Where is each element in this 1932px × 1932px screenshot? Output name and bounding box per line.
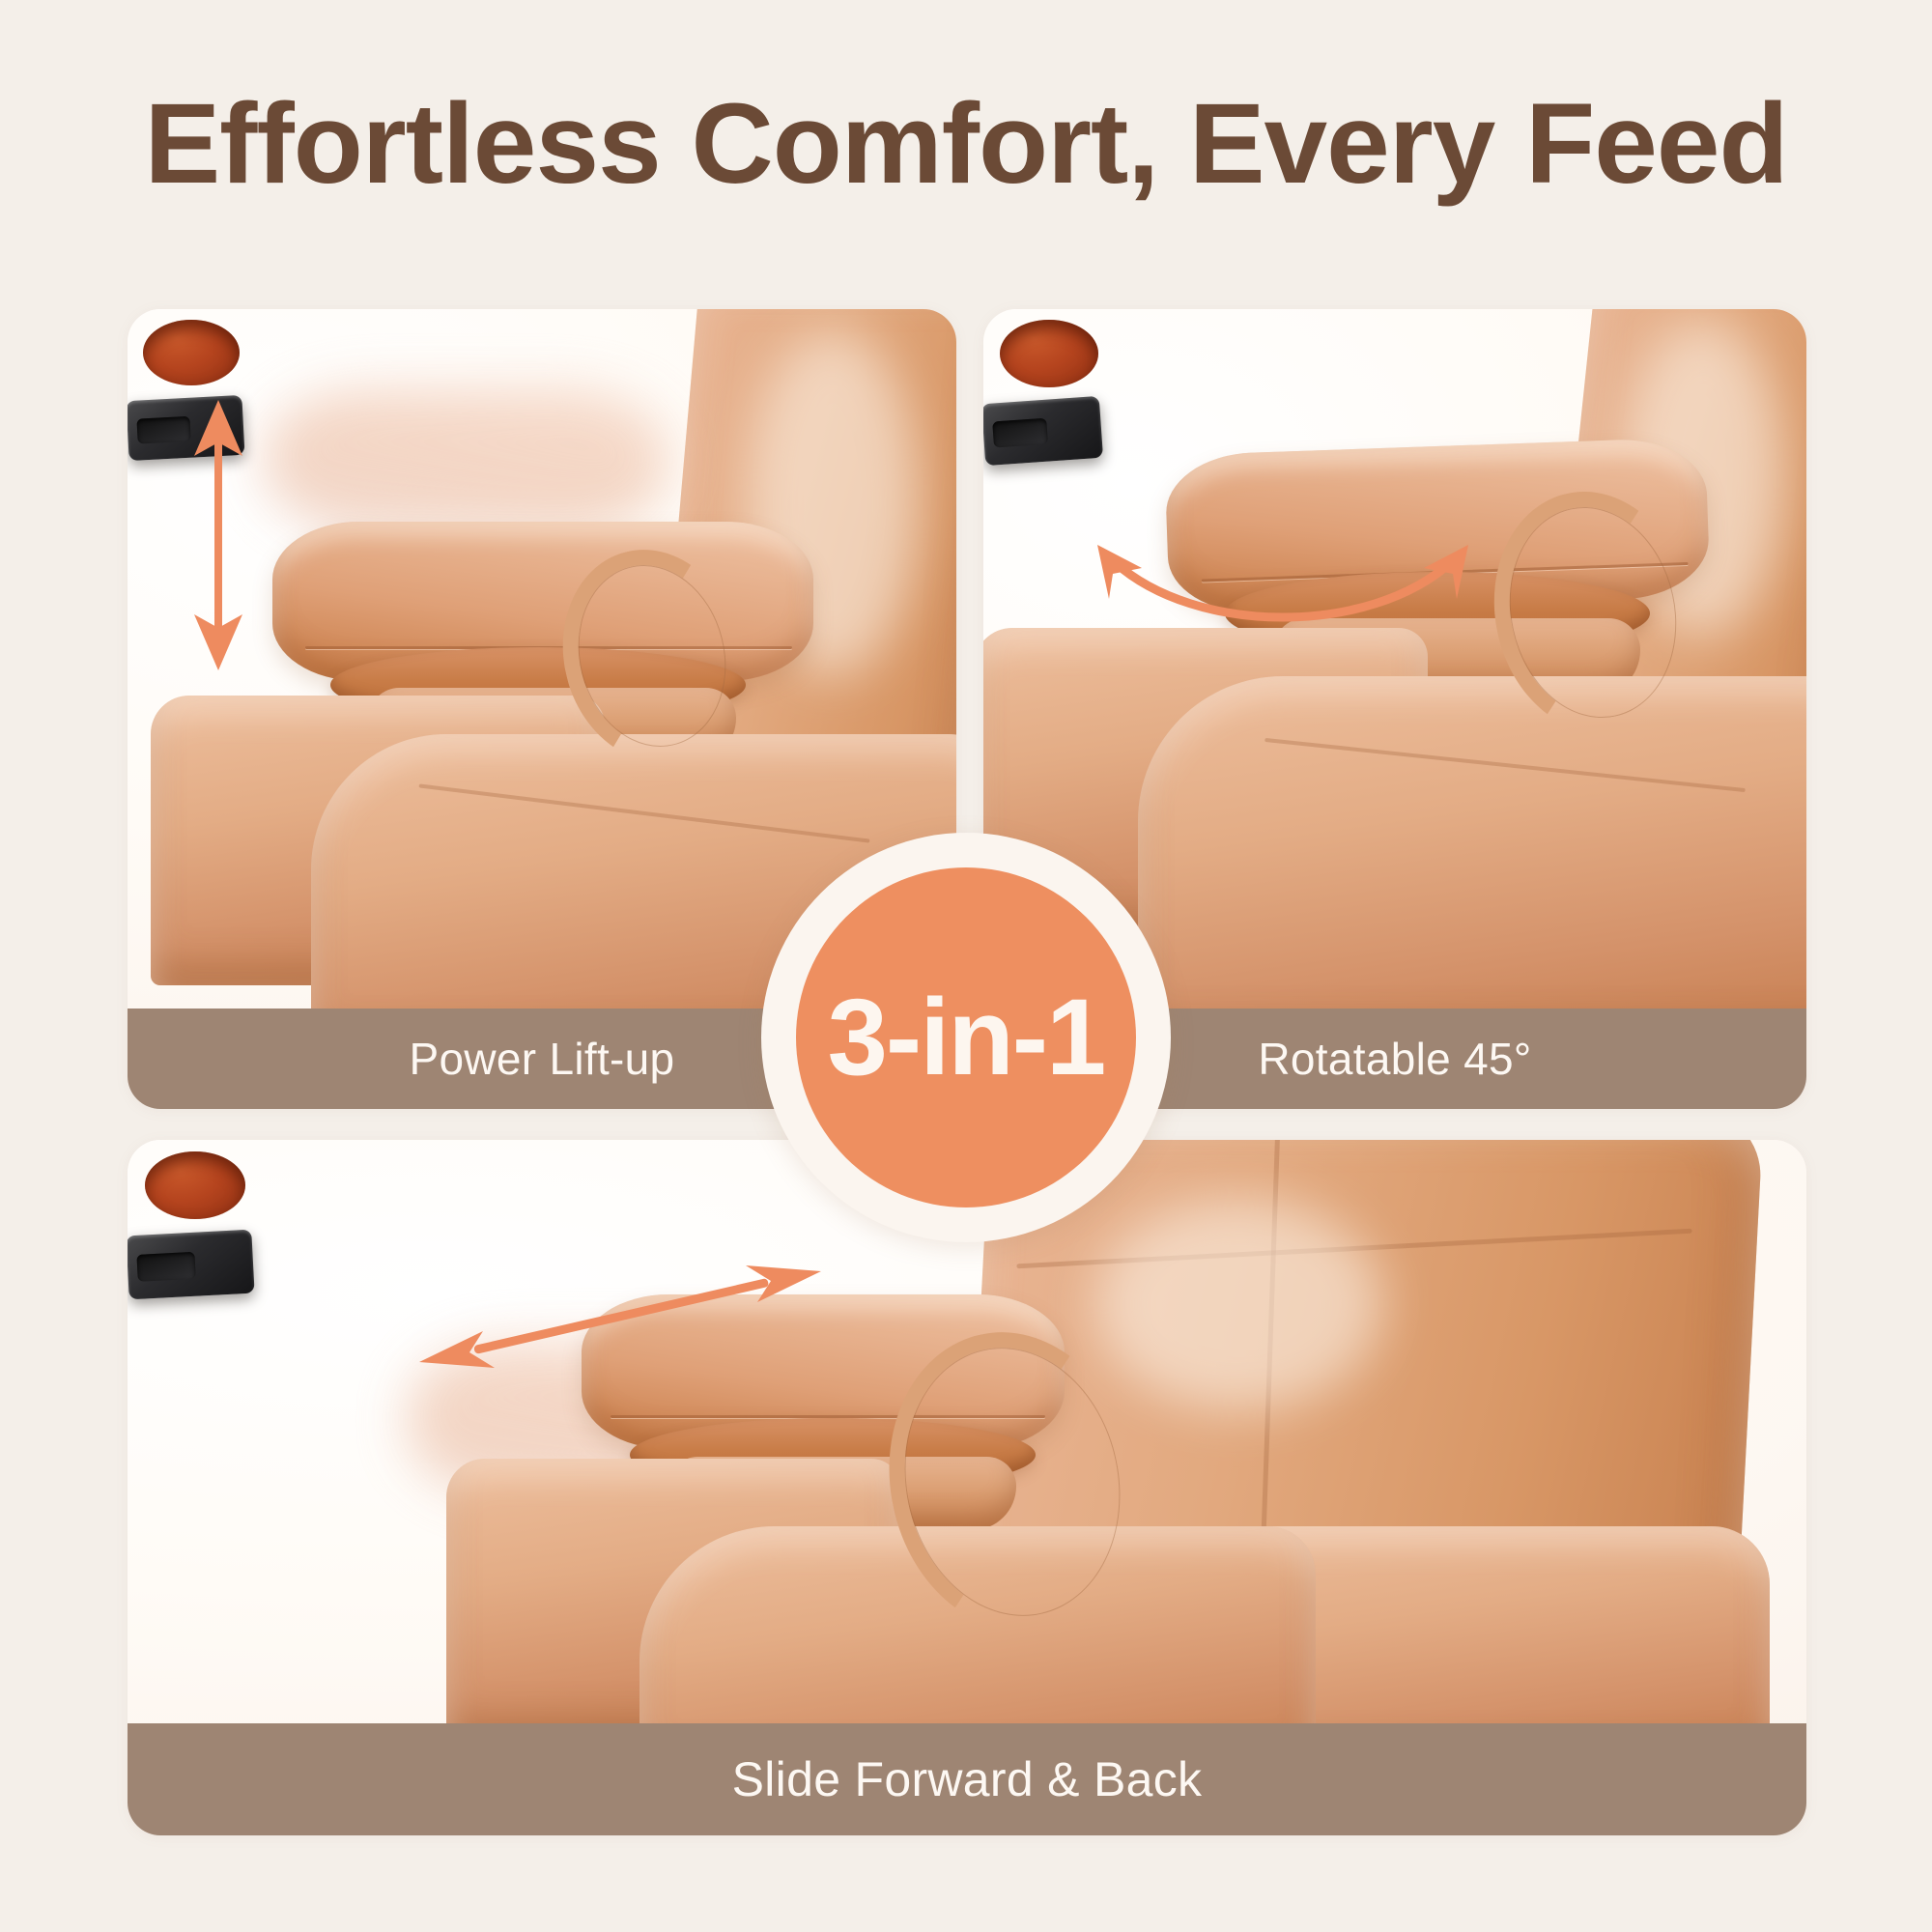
cup-holder-well — [1000, 320, 1098, 387]
cup-holder — [128, 1140, 263, 1233]
cup-holder-well — [145, 1151, 245, 1219]
curved-double-arrow-icon — [1080, 531, 1486, 647]
diagonal-double-arrow-icon — [417, 1256, 823, 1381]
badge-label: 3-in-1 — [828, 983, 1105, 1092]
badge-disc: 3-in-1 — [796, 867, 1136, 1207]
caption-label: Rotatable 45° — [1258, 1033, 1531, 1085]
backrest-highlight — [1094, 1198, 1383, 1410]
caption-label: Slide Forward & Back — [732, 1751, 1203, 1807]
plug-socket-notch — [137, 1252, 196, 1282]
cup-holder — [983, 309, 1115, 400]
seat-cushion — [1138, 676, 1806, 1043]
panel-caption-slide: Slide Forward & Back — [128, 1723, 1806, 1835]
power-plug-module — [983, 396, 1103, 466]
cup-holder — [128, 309, 255, 398]
plug-socket-notch — [992, 418, 1048, 448]
badge-3-in-1: 3-in-1 — [761, 833, 1171, 1242]
page-title: Effortless Comfort, Every Feed — [0, 85, 1932, 205]
vertical-double-arrow-icon — [187, 400, 249, 670]
caption-label: Power Lift-up — [410, 1033, 675, 1085]
cup-holder-well — [143, 320, 240, 385]
feature-panel-slide: Slide Forward & Back — [128, 1140, 1806, 1835]
power-plug-module — [128, 1230, 255, 1300]
armrest-motion-ghost — [263, 388, 668, 533]
plug-socket-notch — [136, 415, 190, 443]
